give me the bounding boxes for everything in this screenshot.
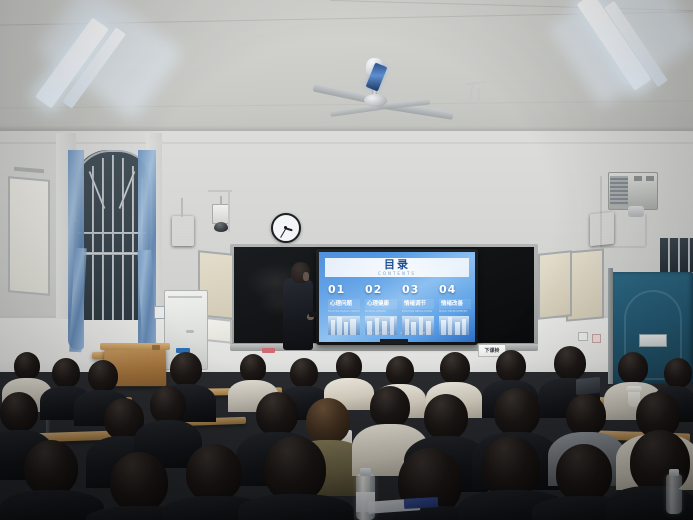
wall-outlet[interactable]: [578, 332, 588, 341]
cup-lid: [626, 386, 642, 392]
ac-vent: [610, 176, 628, 206]
ac-switch: [634, 176, 642, 181]
cabinet-seam: [168, 296, 202, 298]
student-head: [424, 394, 468, 440]
student-head: [240, 354, 266, 382]
student-head: [440, 352, 470, 384]
slide-section-03: 03 情绪调节 EMOTION REGULATION: [402, 284, 434, 335]
student-head: [496, 350, 526, 382]
chalk-tray-item: [262, 348, 275, 353]
wall-outlet[interactable]: [592, 334, 601, 343]
wall-panel-left: [8, 176, 50, 296]
wall-sign-text: 下课铃: [484, 347, 499, 354]
light-switch[interactable]: [154, 306, 165, 319]
student-head: [52, 358, 80, 388]
student-head-foreground: [186, 444, 242, 502]
ceiling-conduit: [478, 88, 480, 114]
clock-center: [284, 226, 287, 229]
ac-drain: [628, 206, 644, 217]
bottle-cap: [360, 468, 371, 476]
section-label: 心理问题: [328, 299, 360, 309]
student-head: [0, 392, 38, 432]
student-head-foreground: [482, 436, 540, 498]
wall-conduit: [228, 192, 230, 232]
wall-seam: [0, 142, 693, 144]
section-label: 情绪调节: [402, 299, 434, 309]
student-head: [14, 352, 40, 380]
section-number: 02: [365, 284, 397, 296]
presenter-device: [309, 312, 316, 317]
presentation-screen: 目录 CONTENTS 01 心理问题 PSYCHOLOGICAL ISSUES…: [316, 249, 478, 345]
clock-minute-hand: [279, 228, 285, 238]
bottle-cap: [669, 469, 679, 476]
slide-section-02: 02 心理健康 MENTAL HEALTH: [365, 284, 397, 335]
wall-conduit: [208, 190, 232, 192]
slide-section-01: 01 心理问题 PSYCHOLOGICAL ISSUES: [328, 284, 360, 335]
water-bottle: [666, 474, 682, 514]
student-head: [664, 358, 692, 388]
slide-contents: 目录 CONTENTS 01 心理问题 PSYCHOLOGICAL ISSUES…: [319, 252, 475, 342]
speaker-bracket: [181, 198, 183, 217]
student-head: [386, 356, 414, 386]
student-head-foreground: [264, 436, 326, 502]
classroom-photo: 目录 CONTENTS 01 心理问题 PSYCHOLOGICAL ISSUES…: [0, 0, 693, 520]
door-frame: [608, 268, 613, 384]
section-label: 心理健康: [365, 299, 397, 309]
open-laptop[interactable]: [576, 377, 600, 396]
cabinet-handle[interactable]: [186, 330, 194, 333]
bottle-label: [356, 492, 375, 512]
section-english: MENTAL HEALTH: [365, 310, 397, 314]
student-shoulders-foreground: [238, 494, 354, 520]
section-english: EMOTION REGULATION: [402, 310, 434, 314]
student-head: [170, 352, 202, 386]
student-head: [566, 394, 606, 436]
student-head-foreground: [556, 444, 612, 502]
door-sign-plate: [639, 334, 667, 347]
student-head: [256, 392, 298, 436]
student-head: [306, 398, 350, 444]
section-english: PSYCHOLOGICAL ISSUES: [328, 310, 360, 314]
slide-section-04: 04 情绪改善 MOOD IMPROVEMENT: [439, 284, 471, 335]
student-head: [370, 386, 410, 428]
podium-marking: [152, 345, 160, 350]
student-head: [554, 346, 586, 380]
student-head: [290, 358, 318, 388]
window-bar: [78, 252, 146, 255]
student-head: [150, 386, 186, 424]
window-bar: [78, 232, 146, 234]
presenter-face: [303, 272, 309, 281]
wall-conduit: [600, 246, 646, 248]
student-head: [336, 352, 362, 380]
wall-clock: [271, 213, 301, 243]
student-head: [494, 388, 540, 436]
window-bar: [678, 238, 680, 272]
student-head: [88, 360, 118, 392]
section-label: 情绪改善: [439, 299, 471, 309]
wall-speaker-right: [590, 212, 614, 247]
student-head: [618, 352, 648, 384]
wall-panel-blackboard-right: [538, 250, 572, 320]
window-bar: [668, 238, 670, 272]
fan-motor: [364, 94, 387, 107]
window-bar: [688, 238, 690, 272]
section-number: 01: [328, 284, 360, 296]
slide-footer: 心理健康教育讲座 · 关注学生心理成长: [325, 331, 469, 336]
screen-stand: [380, 339, 408, 344]
dome-camera: [214, 222, 228, 232]
section-english: MOOD IMPROVEMENT: [439, 310, 471, 314]
student-head-foreground: [110, 452, 168, 512]
section-number: 04: [439, 284, 471, 296]
slide-subtitle: CONTENTS: [325, 270, 469, 277]
ac-switch: [646, 176, 654, 181]
wall-conduit: [645, 214, 647, 246]
student-head-foreground: [24, 440, 78, 496]
camera-bracket: [220, 196, 222, 205]
section-number: 03: [402, 284, 434, 296]
notebook-cover: [404, 497, 438, 509]
wall-speaker-left: [172, 216, 194, 246]
